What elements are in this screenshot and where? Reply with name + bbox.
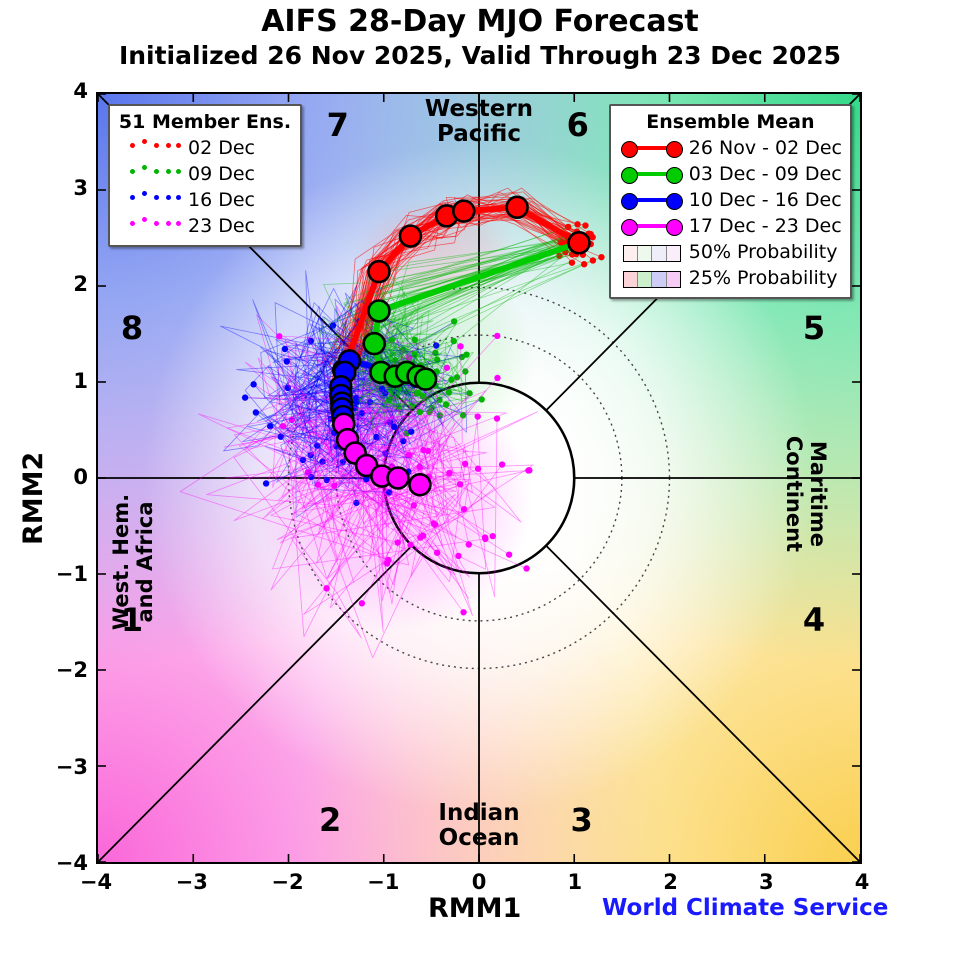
legend-mean-label: 50% Probability <box>685 241 838 263</box>
y-tick-label: −3 <box>42 755 88 779</box>
legend-mean-row[interactable]: 10 Dec - 16 Dec <box>619 187 842 213</box>
x-tick-label: 4 <box>842 870 882 894</box>
legend-members-row[interactable]: 02 Dec <box>118 135 292 161</box>
legend-ensemble-mean[interactable]: Ensemble Mean 26 Nov - 02 Dec 03 Dec - 0… <box>609 104 852 299</box>
region-label-indian-ocean: Indian Ocean <box>418 801 540 851</box>
dot-swatch-icon <box>118 137 184 159</box>
line-marker-icon <box>619 137 685 159</box>
x-tick-label: 2 <box>651 870 691 894</box>
phase-label-7: 7 <box>327 106 349 144</box>
y-tick-label: −1 <box>42 562 88 586</box>
x-tick-label: −3 <box>172 870 212 894</box>
legend-members-label: 02 Dec <box>184 137 255 159</box>
x-tick-label: −1 <box>363 870 403 894</box>
legend-members-row[interactable]: 23 Dec <box>118 213 292 239</box>
legend-mean-label: 26 Nov - 02 Dec <box>685 137 842 159</box>
legend-members[interactable]: 51 Member Ens. 02 Dec 09 Dec 16 Dec 23 D… <box>108 104 302 247</box>
legend-members-row[interactable]: 16 Dec <box>118 187 292 213</box>
legend-mean-row[interactable]: 17 Dec - 23 Dec <box>619 213 842 239</box>
legend-members-row[interactable]: 09 Dec <box>118 161 292 187</box>
line-marker-icon <box>619 189 685 211</box>
region-label-western-pacific: Western Pacific <box>418 97 540 147</box>
title-block: AIFS 28-Day MJO Forecast Initialized 26 … <box>0 4 960 72</box>
legend-mean-row[interactable]: 26 Nov - 02 Dec <box>619 135 842 161</box>
phase-label-6: 6 <box>567 106 589 144</box>
phase-label-4: 4 <box>803 601 825 639</box>
region-label-west-hem-africa: West. Hem. and Africa <box>109 477 157 647</box>
y-axis-label: RMM2 <box>18 452 49 545</box>
x-tick-label: 0 <box>459 870 499 894</box>
y-tick-label: 4 <box>42 79 88 103</box>
legend-mean-label: 03 Dec - 09 Dec <box>685 163 842 185</box>
phase-label-8: 8 <box>121 309 143 347</box>
legend-mean-title: Ensemble Mean <box>619 111 842 133</box>
x-tick-label: −2 <box>268 870 308 894</box>
dot-swatch-icon <box>118 215 184 237</box>
y-tick-label: 3 <box>42 176 88 200</box>
line-marker-icon <box>619 163 685 185</box>
legend-members-label: 23 Dec <box>184 215 255 237</box>
region-label-maritime-continent: Maritime Continent <box>782 409 830 579</box>
probability-swatch-icon <box>619 241 685 263</box>
x-axis-label: RMM1 <box>428 893 521 924</box>
phase-label-2: 2 <box>319 801 341 839</box>
phase-label-5: 5 <box>803 309 825 347</box>
dot-swatch-icon <box>118 189 184 211</box>
phase-label-3: 3 <box>570 801 592 839</box>
y-tick-label: −4 <box>42 851 88 875</box>
line-marker-icon <box>619 215 685 237</box>
legend-members-label: 16 Dec <box>184 189 255 211</box>
plot-area: 8 1 7 6 5 4 3 2 Western Pacific Indian O… <box>96 92 862 864</box>
y-tick-label: −2 <box>42 658 88 682</box>
y-tick-label: 1 <box>42 369 88 393</box>
legend-mean-label: 17 Dec - 23 Dec <box>685 215 842 237</box>
legend-members-label: 09 Dec <box>184 163 255 185</box>
x-tick-label: 3 <box>746 870 786 894</box>
watermark: World Climate Service <box>602 895 888 921</box>
y-tick-label: 2 <box>42 272 88 296</box>
legend-mean-row[interactable]: 50% Probability <box>619 239 842 265</box>
legend-mean-label: 25% Probability <box>685 267 838 289</box>
legend-mean-label: 10 Dec - 16 Dec <box>685 189 842 211</box>
legend-mean-row[interactable]: 03 Dec - 09 Dec <box>619 161 842 187</box>
legend-mean-row[interactable]: 25% Probability <box>619 265 842 291</box>
probability-swatch-icon <box>619 267 685 289</box>
legend-members-title: 51 Member Ens. <box>118 111 292 133</box>
page-title: AIFS 28-Day MJO Forecast <box>0 4 960 40</box>
x-tick-label: 1 <box>555 870 595 894</box>
page-subtitle: Initialized 26 Nov 2025, Valid Through 2… <box>0 40 960 72</box>
mjo-phase-diagram: AIFS 28-Day MJO Forecast Initialized 26 … <box>0 0 960 960</box>
dot-swatch-icon <box>118 163 184 185</box>
